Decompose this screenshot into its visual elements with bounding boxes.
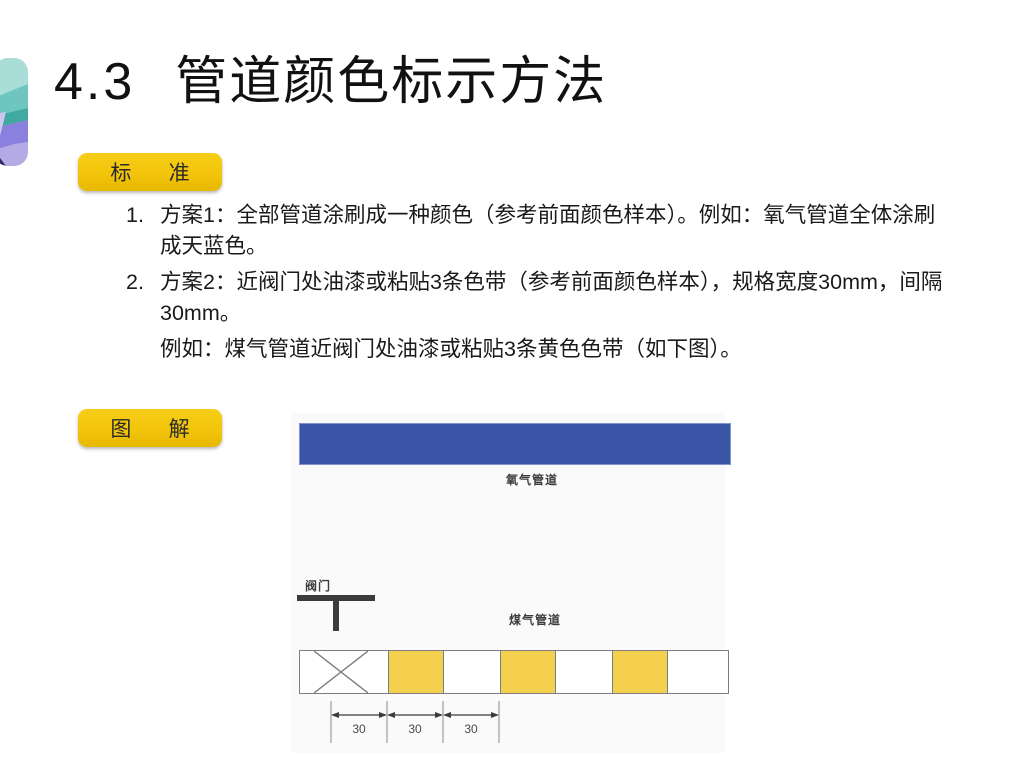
badge-diagram[interactable]: 图 解	[78, 409, 222, 447]
list-item: 2. 方案2：近阀门处油漆或粘贴3条色带（参考前面颜色样本），规格宽度30mm，…	[126, 267, 956, 328]
page-title: 4.3管道颜色标示方法	[54, 56, 607, 109]
valve-x-marker-icon	[314, 651, 368, 693]
badge-standard[interactable]: 标 准	[78, 153, 222, 191]
color-band	[612, 651, 668, 693]
color-band	[500, 651, 556, 693]
valve-symbol-icon	[297, 595, 377, 631]
oxygen-pipe-label: 氧气管道	[506, 471, 558, 488]
dimension-value: 30	[464, 722, 478, 736]
badge-diagram-label: 图 解	[94, 413, 205, 443]
list-item-marker: 2.	[126, 267, 160, 328]
content-note: 例如：煤气管道近阀门处油漆或粘贴3条黄色色带（如下图）。	[126, 334, 956, 365]
list-item-text: 方案2：近阀门处油漆或粘贴3条色带（参考前面颜色样本），规格宽度30mm，间隔3…	[160, 267, 956, 328]
pipe-marking-figure: 氧气管道 阀门 煤气管道	[291, 413, 725, 753]
title-number: 4.3	[54, 53, 135, 111]
content-list: 1. 方案1：全部管道涂刷成一种颜色（参考前面颜色样本）。例如：氧气管道全体涂刷…	[126, 200, 956, 365]
dimension-value: 30	[408, 722, 422, 736]
slide-canvas: 4.3管道颜色标示方法 标 准 1. 方案1：全部管道涂刷成一种颜色（参考前面颜…	[0, 0, 1024, 768]
gas-pipe-label: 煤气管道	[509, 611, 561, 628]
badge-standard-label: 标 准	[94, 157, 205, 187]
list-item: 1. 方案1：全部管道涂刷成一种颜色（参考前面颜色样本）。例如：氧气管道全体涂刷…	[126, 200, 956, 261]
color-band	[388, 651, 444, 693]
gas-pipe-bar	[299, 650, 729, 694]
list-item-text: 方案1：全部管道涂刷成一种颜色（参考前面颜色样本）。例如：氧气管道全体涂刷成天蓝…	[160, 200, 956, 261]
company-logo-icon	[0, 58, 28, 166]
valve-label: 阀门	[305, 577, 331, 594]
dimension-value: 30	[352, 722, 366, 736]
dimension-ruler: 30 30 30	[299, 699, 729, 745]
list-item-marker: 1.	[126, 200, 160, 261]
title-text: 管道颜色标示方法	[175, 54, 607, 111]
oxygen-pipe-bar	[299, 423, 731, 465]
